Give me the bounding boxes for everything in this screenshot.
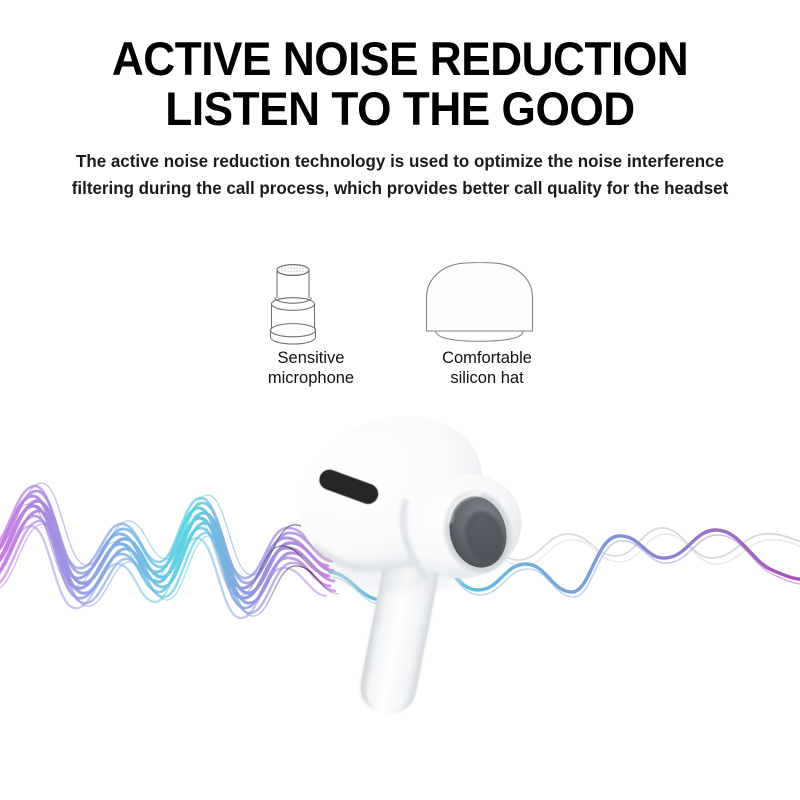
feature-callouts: Sensitive microphone Comfo (236, 252, 596, 392)
description-paragraph: The active noise reduction technology is… (61, 148, 740, 202)
feature-caption-microphone-line-1: Sensitive (236, 348, 386, 368)
feature-caption-silicon-hat-line-1: Comfortable (412, 348, 562, 368)
earbud-product-image (250, 398, 550, 738)
feature-caption-microphone: Sensitive microphone (236, 348, 386, 388)
microphone-icon (236, 252, 386, 348)
page-title: ACTIVE NOISE REDUCTION LISTEN TO THE GOO… (24, 34, 776, 134)
product-marketing-banner: ACTIVE NOISE REDUCTION LISTEN TO THE GOO… (0, 0, 800, 800)
headline-line-2: LISTEN TO THE GOOD (24, 84, 776, 134)
feature-caption-microphone-line-2: microphone (236, 368, 386, 388)
feature-caption-silicon-hat-line-2: silicon hat (412, 368, 562, 388)
feature-sensitive-microphone: Sensitive microphone (236, 252, 386, 392)
feature-silicon-hat: Comfortable silicon hat (412, 252, 562, 392)
description-line-3: for the headset (607, 178, 729, 198)
headline-line-1: ACTIVE NOISE REDUCTION (24, 34, 776, 84)
ear-tip-icon (412, 252, 562, 348)
feature-caption-silicon-hat: Comfortable silicon hat (412, 348, 562, 388)
description-line-1: The active noise reduction technology is… (76, 151, 622, 171)
